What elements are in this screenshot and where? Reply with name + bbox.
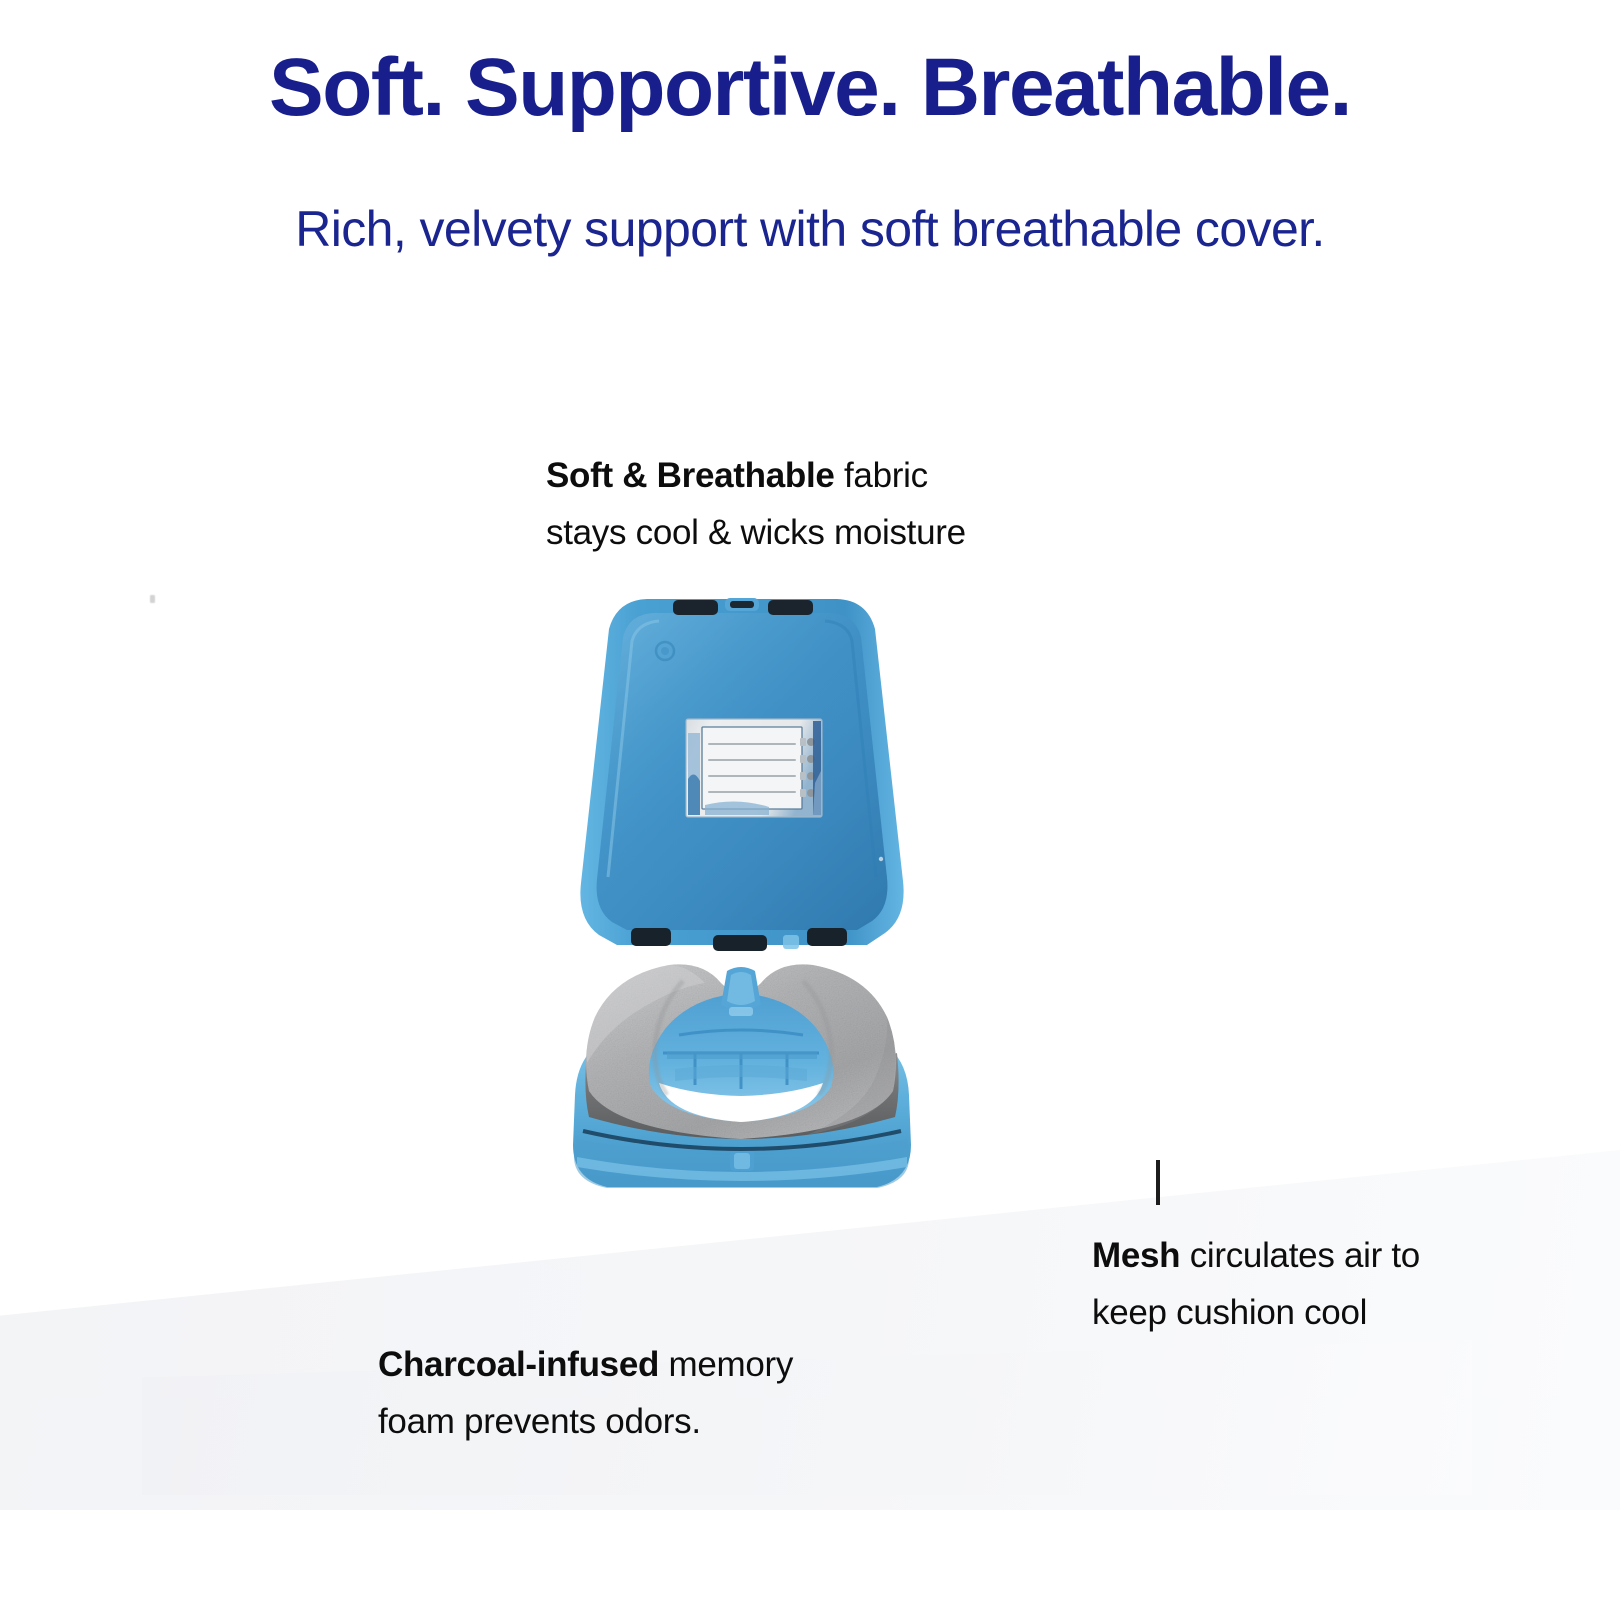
callout-charcoal-bold: Charcoal-infused (378, 1345, 659, 1384)
callout-charcoal-line2: foam prevents odors. (378, 1394, 793, 1451)
product-image-cushioned-toilet-seat (555, 583, 927, 1208)
callout-mesh-line1: Mesh circulates air to (1092, 1228, 1420, 1285)
mesh-leader-line (1156, 1160, 1160, 1205)
page-title: Soft. Supportive. Breathable. (0, 46, 1620, 130)
callout-fabric: Soft & Breathable fabric stays cool & wi… (546, 448, 966, 561)
callout-fabric-line2: stays cool & wicks moisture (546, 505, 966, 562)
callout-fabric-bold: Soft & Breathable (546, 456, 835, 495)
callout-mesh-regular: circulates air to (1180, 1236, 1420, 1275)
callout-fabric-regular: fabric (835, 456, 928, 495)
callout-charcoal: Charcoal-infused memory foam prevents od… (378, 1337, 793, 1450)
product-label-sticker (686, 719, 822, 817)
product-lid (580, 598, 903, 951)
background-wedge-lower (142, 1340, 1472, 1495)
callout-charcoal-line1: Charcoal-infused memory (378, 1337, 793, 1394)
page-subtitle: Rich, velvety support with soft breathab… (0, 202, 1620, 256)
infographic-canvas: Soft. Supportive. Breathable. Rich, velv… (0, 0, 1620, 1620)
product-seat-assembly (573, 964, 911, 1188)
callout-mesh-line2: keep cushion cool (1092, 1285, 1420, 1342)
callout-fabric-line1: Soft & Breathable fabric (546, 448, 966, 505)
background-speck (150, 595, 155, 603)
callout-charcoal-regular: memory (659, 1345, 793, 1384)
callout-mesh: Mesh circulates air to keep cushion cool (1092, 1228, 1420, 1341)
callout-mesh-bold: Mesh (1092, 1236, 1180, 1275)
